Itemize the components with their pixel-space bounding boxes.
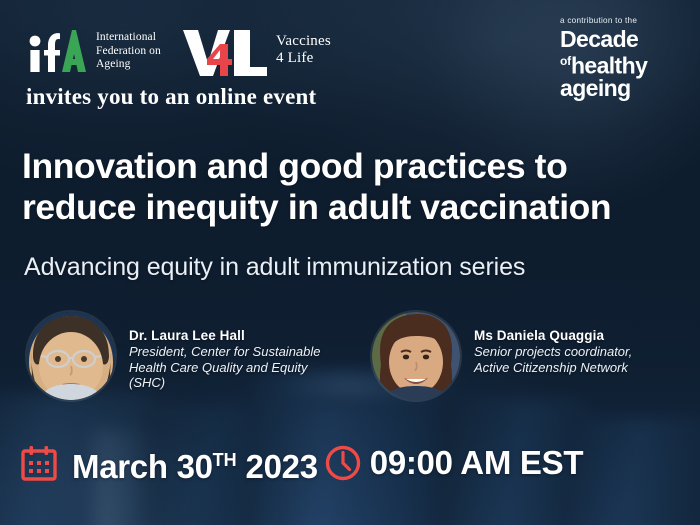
speaker-role-line-3: (SHC): [129, 375, 321, 391]
speaker-card: Dr. Laura Lee Hall President, Center for…: [27, 312, 321, 400]
title-line-1: Innovation and good practices to: [22, 146, 682, 187]
clock-icon: [324, 444, 362, 482]
invitation-line: invites you to an online event: [26, 84, 316, 110]
speaker-info: Dr. Laura Lee Hall President, Center for…: [115, 312, 321, 391]
v4l-name-line-2: 4 Life: [276, 50, 331, 67]
speakers-section: Dr. Laura Lee Hall President, Center for…: [0, 312, 700, 417]
event-date: March 30TH 2023: [72, 442, 318, 485]
speaker-card: Ms Daniela Quaggia Senior projects coord…: [372, 312, 632, 400]
speaker-name: Ms Daniela Quaggia: [474, 328, 632, 344]
speaker-info: Ms Daniela Quaggia Senior projects coord…: [460, 312, 632, 375]
decade-of-healthy-ageing-logo: a contribution to the Decade ofhealthy a…: [557, 16, 690, 100]
event-poster: International Federation on Ageing Vacci…: [0, 0, 700, 525]
decade-word-healthy: ofhealthy: [560, 50, 690, 77]
speaker-role-line-2: Active Citizenship Network: [474, 360, 632, 376]
event-day-ordinal: TH: [213, 450, 237, 470]
avatar: [27, 312, 115, 400]
speaker-role-line-2: Health Care Quality and Equity: [129, 360, 321, 376]
avatar: [372, 312, 460, 400]
ifa-org-name: International Federation on Ageing: [96, 26, 172, 72]
decade-word-ageing: ageing: [560, 77, 690, 100]
ifa-org-line-3: Ageing: [96, 58, 172, 72]
ifa-org-line-2: Federation on: [96, 45, 172, 59]
v4l-logo-icon: [182, 26, 268, 78]
title-line-2: reduce inequity in adult vaccination: [22, 187, 682, 228]
speaker-name: Dr. Laura Lee Hall: [129, 328, 321, 344]
ifa-org-line-1: International: [96, 31, 172, 45]
decade-word-decade: Decade: [560, 28, 690, 50]
page-subtitle: Advancing equity in adult immunization s…: [24, 252, 684, 282]
event-month-day: March 30: [72, 448, 213, 485]
calendar-icon: [20, 444, 58, 482]
v4l-name: Vaccines 4 Life: [276, 26, 331, 67]
event-time: 09:00 AM EST: [370, 445, 583, 481]
speaker-role-line-1: President, Center for Sustainable: [129, 344, 321, 360]
ifa-logo-icon: [26, 26, 88, 76]
logo-row: International Federation on Ageing Vacci…: [26, 26, 331, 78]
event-datetime-bar: March 30TH 2023 09:00 AM EST: [0, 432, 700, 494]
decade-word-of: of: [560, 54, 571, 68]
page-title: Innovation and good practices to reduce …: [22, 146, 682, 228]
decade-contribution-text: a contribution to the: [560, 16, 690, 26]
event-year: 2023: [246, 448, 318, 485]
speaker-role-line-1: Senior projects coordinator,: [474, 344, 632, 360]
v4l-name-line-1: Vaccines: [276, 33, 331, 50]
